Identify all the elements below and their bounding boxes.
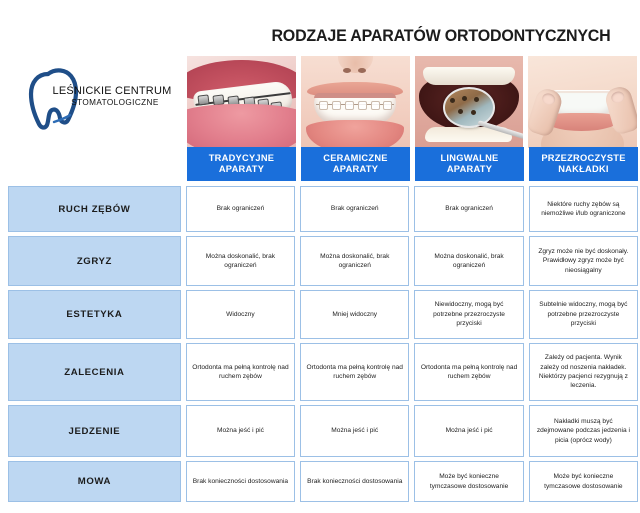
- cell-zalecenia-lingwalne: Ortodonta ma pełną kontrolę nad ruchem z…: [414, 343, 523, 401]
- cell-zgryz-lingwalne: Można doskonalić, brak ograniczeń: [414, 236, 523, 286]
- row-label-jedzenie: JEDZENIE: [8, 405, 181, 457]
- cell-mowa-przezroczyste: Może być konieczne tymczasowe dostosowan…: [529, 461, 638, 502]
- table-row: RUCH ZĘBÓW Brak ograniczeń Brak ogranicz…: [8, 186, 638, 232]
- cell-ruch-zebow-przezroczyste: Niektóre ruchy zębów są niemożliwe i/lub…: [529, 186, 638, 232]
- cell-jedzenie-tradycyjne: Można jeść i pić: [186, 405, 295, 457]
- row-label-mowa: MOWA: [8, 461, 181, 502]
- clinic-logo: LEŚNICKIE CENTRUM STOMATOLOGICZNE: [18, 58, 178, 138]
- table-row: ZGRYZ Można doskonalić, brak ograniczeń …: [8, 236, 638, 286]
- cell-zalecenia-przezroczyste: Zależy od pacjenta. Wynik zależy od nosz…: [529, 343, 638, 401]
- table-row: JEDZENIE Można jeść i pić Można jeść i p…: [8, 405, 638, 457]
- row-label-zgryz: ZGRYZ: [8, 236, 181, 286]
- column-header-lingwalne: LINGWALNE APARATY: [415, 147, 524, 181]
- column-header-przezroczyste: PRZEZROCZYSTE NAKŁADKI: [529, 147, 638, 181]
- cell-zgryz-tradycyjne: Można doskonalić, brak ograniczeń: [186, 236, 295, 286]
- cell-ruch-zebow-lingwalne: Brak ograniczeń: [414, 186, 523, 232]
- logo-secondary-text: STOMATOLOGICZNE: [52, 98, 178, 107]
- table-row: ZALECENIA Ortodonta ma pełną kontrolę na…: [8, 343, 638, 401]
- photo-ceramic-braces: [301, 56, 410, 148]
- table-body: RUCH ZĘBÓW Brak ograniczeń Brak ogranicz…: [8, 186, 638, 502]
- cell-zalecenia-ceramiczne: Ortodonta ma pełną kontrolę nad ruchem z…: [300, 343, 409, 401]
- column-header-tradycyjne: TRADYCYJNE APARATY: [187, 147, 296, 181]
- cell-jedzenie-lingwalne: Można jeść i pić: [414, 405, 523, 457]
- table-row: ESTETYKA Widoczny Mniej widoczny Niewido…: [8, 290, 638, 339]
- column-header-ceramiczne: CERAMICZNE APARATY: [301, 147, 410, 181]
- cell-estetyka-ceramiczne: Mniej widoczny: [300, 290, 409, 339]
- row-label-ruch-zebow: RUCH ZĘBÓW: [8, 186, 181, 232]
- table-header-row: TRADYCYJNE APARATY CERAMICZNE APARATY LI…: [187, 147, 638, 181]
- cell-mowa-lingwalne: Może być konieczne tymczasowe dostosowan…: [414, 461, 523, 502]
- cell-zgryz-ceramiczne: Można doskonalić, brak ograniczeń: [300, 236, 409, 286]
- photo-metal-braces: [187, 56, 296, 148]
- cell-mowa-ceramiczne: Brak konieczności dostosowania: [300, 461, 409, 502]
- page-title: RODZAJE APARATÓW ORTODONTYCZNYCH: [254, 27, 628, 46]
- cell-jedzenie-przezroczyste: Nakładki muszą być zdejmowane podczas je…: [529, 405, 638, 457]
- cell-zgryz-przezroczyste: Zgryz może nie być doskonały. Prawidłowy…: [529, 236, 638, 286]
- table-row: MOWA Brak konieczności dostosowania Brak…: [8, 461, 638, 502]
- cell-estetyka-lingwalne: Niewidoczny, mogą być potrzebne przezroc…: [414, 290, 523, 339]
- photo-clear-aligner: [528, 56, 637, 148]
- row-label-zalecenia: ZALECENIA: [8, 343, 181, 401]
- cell-ruch-zebow-tradycyjne: Brak ograniczeń: [186, 186, 295, 232]
- cell-mowa-tradycyjne: Brak konieczności dostosowania: [186, 461, 295, 502]
- comparison-table: TRADYCYJNE APARATY CERAMICZNE APARATY LI…: [8, 147, 638, 506]
- cell-jedzenie-ceramiczne: Można jeść i pić: [300, 405, 409, 457]
- row-label-estetyka: ESTETYKA: [8, 290, 181, 339]
- cell-ruch-zebow-ceramiczne: Brak ograniczeń: [300, 186, 409, 232]
- logo-primary-text: LEŚNICKIE CENTRUM: [46, 85, 178, 97]
- cell-zalecenia-tradycyjne: Ortodonta ma pełną kontrolę nad ruchem z…: [186, 343, 295, 401]
- page-header: RODZAJE APARATÓW ORTODONTYCZNYCH LEŚNICK…: [0, 0, 640, 145]
- photo-strip: [187, 56, 637, 148]
- cell-estetyka-tradycyjne: Widoczny: [186, 290, 295, 339]
- cell-estetyka-przezroczyste: Subtelnie widoczny, mogą być potrzebne p…: [529, 290, 638, 339]
- photo-lingual-mirror: [415, 56, 524, 148]
